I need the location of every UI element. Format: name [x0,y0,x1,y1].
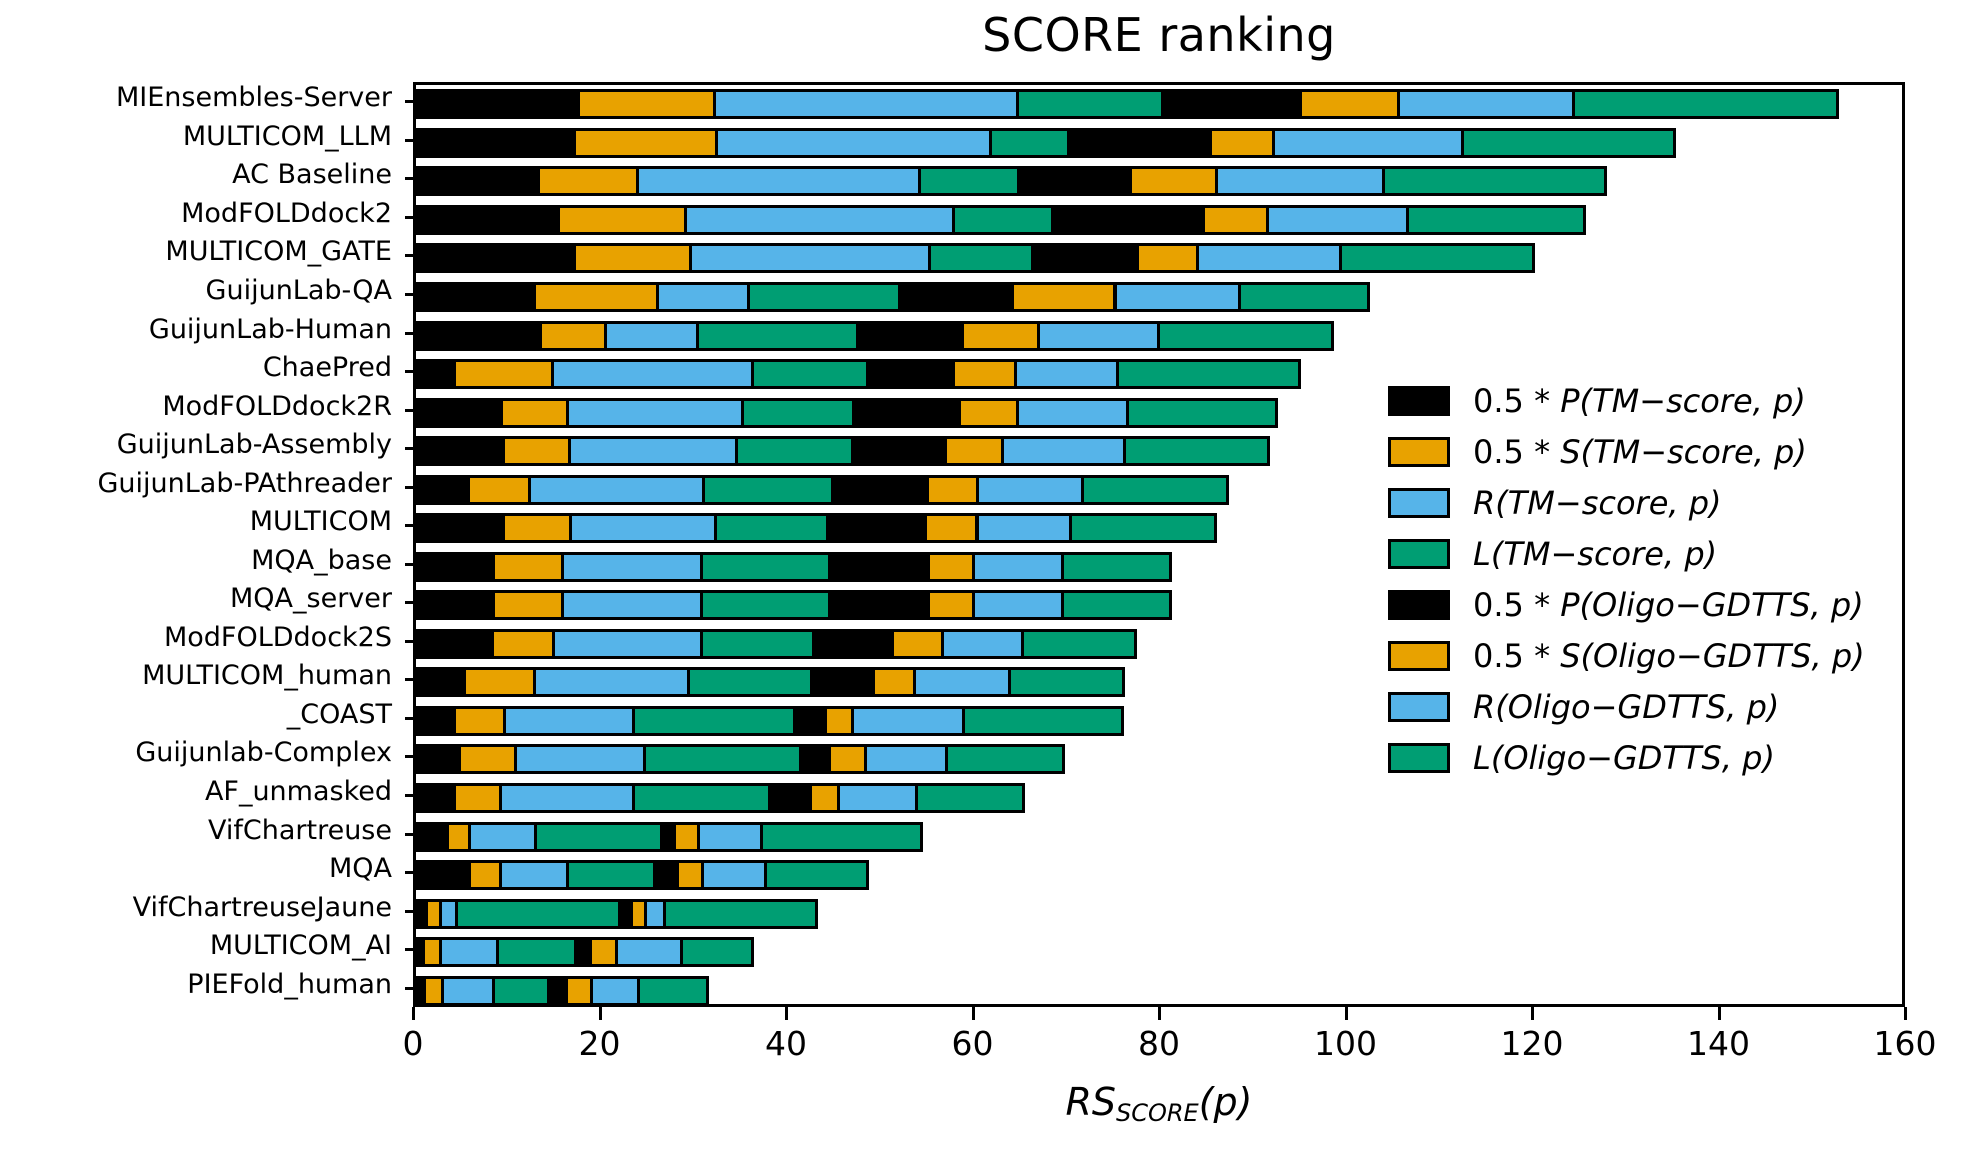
bar-segment [514,744,646,774]
bar-segment [684,205,956,235]
bar-segment [533,282,659,312]
y-axis-tick-label: MULTICOM [250,508,392,535]
bar-segment [496,937,576,967]
bar-segment [566,860,656,890]
bar-segment [915,783,1025,813]
legend-label: L(TM−score, p) [1473,531,1717,578]
x-axis-tick-label: 140 [1659,1024,1779,1063]
bar-segment [680,937,754,967]
bar-segment [416,629,494,659]
y-axis-tick-label: AC Baseline [232,161,392,188]
bar-segment [1017,166,1132,196]
x-axis-tick-mark [972,1007,975,1020]
bar-segment [416,976,426,1006]
legend-label: 0.5 * P(Oligo−GDTTS, p) [1473,582,1864,629]
bar-segment [632,783,771,813]
bar-segment [416,937,425,967]
x-axis-tick-label: 120 [1472,1024,1592,1063]
y-axis-tick-mark [405,370,415,373]
y-axis-tick-mark [405,100,415,103]
bar-segment [416,398,503,428]
bar-segment [492,552,564,582]
bar-segment [689,243,931,273]
bar-segment [793,706,827,736]
legend-swatch [1388,590,1450,620]
bar-segment [1061,552,1172,582]
bar-segment [589,937,618,967]
bar-segment [1123,436,1271,466]
y-axis-tick-mark [405,948,415,951]
bar-segment [1116,359,1301,389]
bar-segment [441,976,494,1006]
bar-segment [568,436,738,466]
y-axis-tick-label: MQA [329,855,392,882]
bar-segment [918,166,1021,196]
bar-segment [972,552,1065,582]
bar-segment [1266,205,1409,235]
bar-segment [552,629,703,659]
bar-segment [534,822,663,852]
x-axis-tick-label: 40 [726,1024,846,1063]
y-axis-tick-mark [405,717,415,720]
y-axis-tick-mark [405,409,415,412]
bar-segment [944,436,1004,466]
bar-segment [1299,89,1400,119]
bar-segment [812,629,893,659]
bar-segment [569,513,717,543]
bar-segment [961,321,1040,351]
bar-segment [1572,89,1839,119]
bar-segment [1215,166,1385,196]
y-axis-tick-label: MIEnsembles-Server [116,84,392,111]
bar-segment [573,243,693,273]
bar-segment [760,822,923,852]
bar-segment [643,744,803,774]
bar-segment [637,976,709,1006]
bar-segment [416,166,540,196]
x-axis-tick-mark [1531,1007,1534,1020]
bar-segment [537,166,639,196]
x-axis-tick-mark [1904,1007,1907,1020]
bar-segment [503,706,636,736]
bar-segment [416,436,505,466]
x-axis-tick-label: 20 [540,1024,660,1063]
bar-segment [416,205,560,235]
bar-segment [852,398,960,428]
bar-segment [492,976,551,1006]
y-axis-tick-label: GuijunLab-PAthreader [98,470,393,497]
bar-segment [941,629,1024,659]
y-axis-tick-label: Guijunlab-Complex [135,739,392,766]
bar-segment [1061,590,1172,620]
bar-segment [976,475,1083,505]
bar-segment [751,359,870,389]
y-axis-tick-label: ChaePred [263,354,392,381]
bar-segment [446,822,471,852]
y-axis-tick-label: MULTICOM_AI [210,932,392,959]
y-axis-tick-mark [405,447,415,450]
bar-segment [851,436,946,466]
bar-segment [700,590,831,620]
y-axis-tick-label: VifChartreuse [208,817,392,844]
y-axis-tick-mark [405,139,415,142]
bar-segment [539,321,607,351]
bar-segment [1161,89,1302,119]
y-axis-tick-mark [405,293,415,296]
bar-segment [1129,166,1218,196]
legend-swatch [1388,386,1450,416]
bar-segment [416,860,471,890]
bar-segment [577,89,715,119]
bar-segment [927,552,975,582]
bar-segment [1196,243,1343,273]
bar-segment [663,899,818,929]
y-axis-tick-mark [405,871,415,874]
bar-segment [416,552,495,582]
legend-swatch [1388,641,1450,671]
bar-segment [439,937,499,967]
bar-segment [453,706,505,736]
bar-segment [1461,128,1676,158]
bar-segment [837,783,917,813]
bar-segment [866,359,955,389]
legend-swatch [1388,743,1450,773]
bar-segment [1209,128,1275,158]
bar-segment [1136,243,1199,273]
bar-segment [898,282,1014,312]
bar-segment [455,899,621,929]
x-axis-tick-label: 160 [1845,1024,1965,1063]
legend-label: 0.5 * S(Oligo−GDTTS, p) [1473,633,1865,680]
bar-segment [1157,321,1333,351]
bar-segment [644,899,667,929]
bar-segment [422,937,443,967]
bar-segment [1397,89,1575,119]
bar-segment [701,860,766,890]
y-axis-tick-label: MQA_base [251,547,392,574]
bar-segment [715,128,991,158]
bar-segment [1069,513,1217,543]
y-axis-tick-mark [405,332,415,335]
x-axis-tick-label: 0 [353,1024,473,1063]
bar-segment [500,398,569,428]
bar-segment [416,706,456,736]
bar-segment [824,706,855,736]
bar-segment [764,860,870,890]
bar-segment [416,783,456,813]
bar-segment [604,321,698,351]
x-axis-tick-mark [599,1007,602,1020]
x-axis-tick-mark [785,1007,788,1020]
bar-segment [768,783,811,813]
bar-segment [1014,359,1120,389]
bar-segment [926,475,979,505]
bar-segment [1202,205,1269,235]
bar-segment [416,321,542,351]
bar-segment [697,822,763,852]
y-axis-tick-label: MULTICOM_LLM [183,123,392,150]
y-axis-tick-label: GuijunLab-QA [206,277,392,304]
bar-segment [492,590,564,620]
bar-segment [747,282,901,312]
legend-swatch [1388,488,1450,518]
bar-segment [735,436,855,466]
bar-segment [416,667,466,697]
bar-segment [1021,629,1137,659]
bar-segment [566,398,744,428]
y-axis-tick-label: PIEFold_human [187,971,392,998]
bar-segment [1238,282,1371,312]
bar-segment [561,590,703,620]
bar-segment [924,513,978,543]
bar-segment [468,822,537,852]
bar-segment [590,976,640,1006]
bar-segment [700,629,815,659]
bar-segment [467,475,531,505]
bar-segment [453,783,502,813]
y-axis-tick-mark [405,601,415,604]
bar-segment [1126,398,1278,428]
x-axis-tick-mark [1345,1007,1348,1020]
bar-segment [1031,243,1138,273]
bar-segment [416,89,580,119]
legend-swatch [1388,539,1450,569]
y-axis-tick-label: GuijunLab-Assembly [117,431,392,458]
bar-segment [972,590,1065,620]
bar-segment [1272,128,1464,158]
bar-segment [945,744,1065,774]
bar-segment [928,243,1035,273]
bar-segment [615,937,683,967]
x-axis-tick-mark [412,1007,415,1020]
bar-segment [676,860,704,890]
x-axis-tick-mark [1718,1007,1721,1020]
x-axis-title: RSSCORE(p) [413,1080,1905,1124]
bar-segment [1382,166,1607,196]
y-axis-tick-label: MQA_server [230,585,392,612]
bar-segment [423,976,444,1006]
y-axis-tick-mark [405,216,415,219]
bar-segment [416,590,495,620]
bar-segment [528,475,705,505]
y-axis-tick-mark [405,254,415,257]
legend-label: 0.5 * S(TM−score, p) [1473,429,1807,476]
bar-segment [557,205,687,235]
bar-segment [533,667,691,697]
bar-segment [696,321,859,351]
bar-segment [872,667,916,697]
bar-segment [416,359,456,389]
bar-segment [1114,282,1241,312]
bar-segment [828,744,866,774]
bar-segment [416,822,449,852]
bar-segment [636,166,921,196]
bar-segment [952,359,1017,389]
x-axis-tick-label: 100 [1286,1024,1406,1063]
legend-swatch [1388,692,1450,722]
y-axis-tick-mark [405,794,415,797]
bar-segment [673,822,699,852]
bar-segment [864,744,948,774]
bar-segment [856,321,963,351]
bar-segment [1051,205,1205,235]
bar-segment [952,205,1054,235]
bar-segment [810,667,875,697]
bar-segment [809,783,841,813]
legend-label: R(TM−score, p) [1473,480,1722,527]
bar-segment [891,629,944,659]
bar-segment [831,475,929,505]
bar-segment [702,475,834,505]
bar-segment [416,282,536,312]
bar-segment [416,899,428,929]
bar-segment [453,359,554,389]
x-axis-tick-label: 60 [913,1024,1033,1063]
bar-segment [851,706,964,736]
y-axis-tick-label: MULTICOM_human [142,662,392,689]
bar-segment [491,629,556,659]
x-axis-tick-label: 80 [1099,1024,1219,1063]
bar-segment [958,398,1019,428]
y-axis-tick-label: ModFOLDdock2S [164,624,392,651]
y-axis-tick-mark [405,987,415,990]
y-axis-tick-mark [405,910,415,913]
bar-segment [416,243,576,273]
y-axis-tick-label: MULTICOM_GATE [165,238,392,265]
bar-segment [416,744,461,774]
bar-segment [551,359,754,389]
y-axis-tick-label: GuijunLab-Human [149,316,392,343]
x-axis-tick-mark [1158,1007,1161,1020]
bar-segment [687,667,813,697]
y-axis-tick-mark [405,563,415,566]
bar-segment [927,590,975,620]
legend-label: 0.5 * P(TM−score, p) [1473,378,1806,425]
y-axis-tick-label: ModFOLDdock2R [162,393,392,420]
bar-segment [561,552,703,582]
bar-segment [1016,89,1164,119]
bar-segment [573,128,719,158]
y-axis-tick-mark [405,486,415,489]
y-axis-tick-mark [405,833,415,836]
bar-segment [1067,128,1212,158]
bar-segment [416,513,505,543]
bar-segment [502,436,571,466]
y-axis-tick-mark [405,177,415,180]
bar-segment [713,89,1019,119]
y-axis-tick-label: _COAST [287,701,392,728]
bar-segment [1016,398,1129,428]
bar-segment [826,513,927,543]
bar-segment [1406,205,1586,235]
bar-segment [468,860,502,890]
bar-segment [1081,475,1229,505]
bar-segment [499,783,635,813]
bar-segment [828,590,930,620]
y-axis-tick-mark [405,640,415,643]
bar-segment [714,513,829,543]
legend-label: L(Oligo−GDTTS, p) [1473,735,1775,782]
bar-segment [463,667,536,697]
bar-segment [565,976,593,1006]
bar-segment [799,744,831,774]
bar-segment [741,398,855,428]
legend-swatch [1388,437,1450,467]
bar-segment [1339,243,1535,273]
chart-title: SCORE ranking [413,8,1905,62]
bar-segment [989,128,1070,158]
bar-segment [416,128,576,158]
bar-segment [1008,667,1125,697]
bar-segment [976,513,1072,543]
bar-segment [499,860,569,890]
bar-segment [653,860,679,890]
y-axis-tick-mark [405,755,415,758]
bar-segment [458,744,517,774]
y-axis-tick-label: AF_unmasked [205,778,392,805]
bar-segment [502,513,572,543]
bar-segment [656,282,750,312]
bar-segment [416,475,470,505]
bar-segment [913,667,1011,697]
bar-segment [962,706,1124,736]
bar-segment [1037,321,1160,351]
bar-segment [1011,282,1117,312]
y-axis-tick-label: VifChartreuseJaune [133,894,392,921]
y-axis-tick-label: ModFOLDdock2 [181,200,392,227]
y-axis-tick-mark [405,678,415,681]
y-axis-tick-mark [405,524,415,527]
bar-segment [547,976,568,1006]
legend-label: R(Oligo−GDTTS, p) [1473,684,1779,731]
bar-segment [700,552,831,582]
bar-segment [632,706,795,736]
bar-segment [828,552,930,582]
bar-segment [1001,436,1126,466]
